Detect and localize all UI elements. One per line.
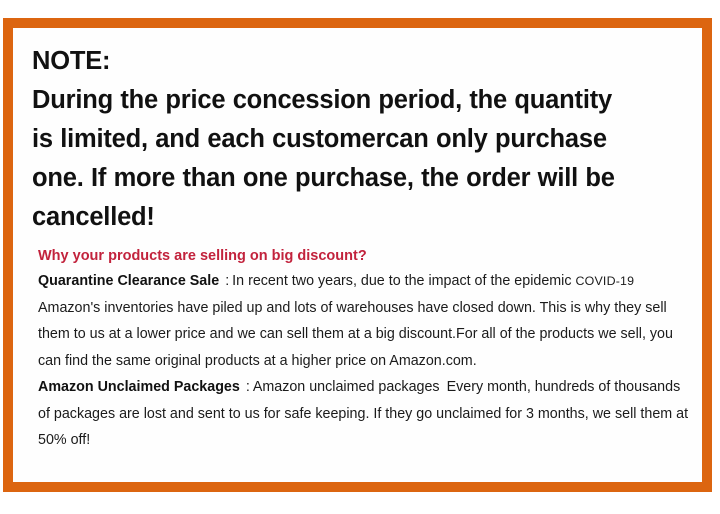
headline-block: NOTE: During the price concession period… (32, 42, 690, 237)
quarantine-clearance-section: Quarantine Clearance Sale:In recent two … (38, 268, 690, 374)
headline-line-1: NOTE: (32, 42, 690, 81)
covid-19-label: COVID-19 (575, 274, 634, 288)
note-page: NOTE: During the price concession period… (0, 0, 720, 514)
headline-line-4: one. If more than one purchase, the orde… (32, 159, 690, 198)
notice-box: NOTE: During the price concession period… (3, 18, 712, 492)
headline-line-3: is limited, and each customercan only pu… (32, 120, 690, 159)
quarantine-body-before: In recent two years, due to the impact o… (232, 273, 575, 289)
headline-line-5: cancelled! (32, 198, 690, 237)
headline-line-2: During the price concession period, the … (32, 81, 690, 120)
unclaimed-colon: : (240, 374, 253, 401)
quarantine-colon: : (219, 268, 232, 295)
notice-inner-content: NOTE: During the price concession period… (13, 28, 702, 482)
quarantine-body-after: Amazon's inventories have piled up and l… (38, 300, 673, 369)
unclaimed-body-lead: Amazon unclaimed packages (253, 379, 440, 395)
discount-question-heading: Why your products are selling on big dis… (38, 246, 690, 266)
quarantine-clearance-term: Quarantine Clearance Sale (38, 273, 219, 289)
unclaimed-packages-term: Amazon Unclaimed Packages (38, 379, 240, 395)
unclaimed-packages-section: Amazon Unclaimed Packages:Amazon unclaim… (38, 374, 690, 454)
